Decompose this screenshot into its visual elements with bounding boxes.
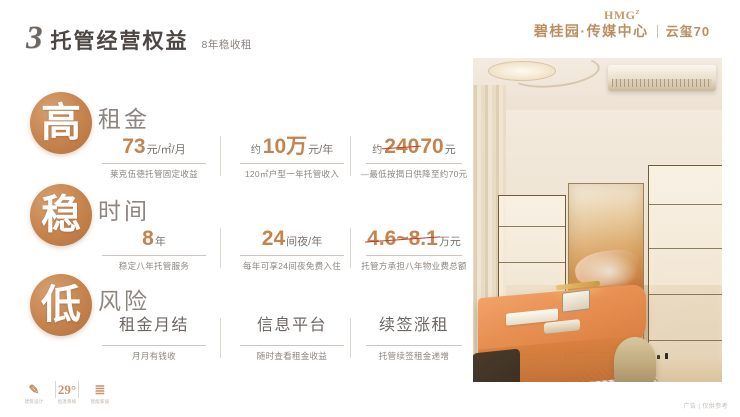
section-number: 3	[26, 22, 42, 55]
metric-value: 信息平台	[228, 318, 356, 342]
metric-term-years: 8 年 稳定八年托管服务	[90, 228, 218, 272]
metric-unit: 元/年	[308, 145, 333, 157]
disclaimer-text: 广告 | 仅供参考	[684, 401, 729, 410]
badge-char: 低	[41, 285, 81, 325]
metric-value: 约 240 70 元	[358, 136, 470, 160]
photo-laptop	[562, 289, 590, 312]
metric-number: 70	[420, 136, 443, 158]
benefit-row-rent: 高 租金 73 元/㎡/月 莱克伍德托管固定收益 约 10万 元/年 120㎡户…	[0, 92, 470, 184]
logo-brand: 碧桂园·传媒中心	[534, 24, 649, 38]
benefit-row-time: 稳 时间 8 年 稳定八年托管服务 24 间夜/年 每年可享24间夜免费入住 4…	[0, 184, 470, 276]
metric-caption: 稳定八年托管服务	[90, 260, 218, 272]
metric-label: 续签涨租	[379, 318, 449, 335]
brand-logo: HMGZ 碧桂园·传媒中心 云玺70	[522, 9, 722, 38]
badge-char: 稳	[41, 195, 81, 235]
footer-badge-design: ✎ 建筑设计	[22, 381, 46, 405]
metric-caption: 随时查看租金收益	[228, 350, 356, 362]
title-row: 3 托管经营权益 8年稳收租	[26, 22, 252, 55]
column-divider	[220, 136, 221, 176]
metric-number: 73	[122, 136, 145, 158]
benefit-row-risk: 低 风险 租金月结 月月有钱收 信息平台 随时查看租金收益 续签涨租 托管续签租…	[0, 274, 470, 366]
badge-di: 低	[30, 274, 92, 336]
metric-rent-monthly: 73 元/㎡/月 莱克伍德托管固定收益	[90, 136, 218, 180]
metric-underline	[102, 163, 206, 164]
metric-value: 73 元/㎡/月	[90, 136, 218, 160]
photo-chair	[472, 348, 520, 385]
metric-caption: 托管续签租金递增	[358, 350, 470, 362]
metric-underline	[240, 255, 344, 256]
metric-number-struck: 240	[384, 136, 419, 158]
logo-divider	[657, 25, 658, 38]
metric-value: 8 年	[90, 228, 218, 252]
column-divider	[220, 228, 221, 268]
interior-photo	[470, 55, 725, 385]
footer-badge-label: 恒温系统	[55, 399, 79, 405]
metric-underline	[240, 345, 344, 346]
metric-caption: 120㎡户型一年托管收入	[228, 168, 356, 180]
logo-project: 云玺70	[666, 25, 710, 38]
metric-caption: 每年可享24间夜免费入住	[228, 260, 356, 272]
badge-char: 高	[41, 103, 81, 143]
column-divider	[220, 318, 221, 358]
badge-word-time: 时间	[98, 192, 150, 226]
logo-names: 碧桂园·传媒中心 云玺70	[522, 24, 722, 38]
benefits-content: 高 租金 73 元/㎡/月 莱克伍德托管固定收益 约 10万 元/年 120㎡户…	[0, 66, 470, 366]
footer-badge-smarthome: ≣ 智能家居	[88, 381, 112, 405]
metric-free-nights: 24 间夜/年 每年可享24间夜免费入住	[228, 228, 356, 272]
metric-caption: 莱克伍德托管固定收益	[90, 168, 218, 180]
metric-number: 24	[262, 228, 285, 250]
metric-unit: 间夜/年	[286, 237, 322, 249]
metric-label: 租金月结	[119, 318, 189, 335]
metric-caption: 托管方承担八年物业费总额	[358, 260, 470, 272]
metric-property-fee: 4.6~8.1 万元 托管方承担八年物业费总额	[358, 228, 470, 272]
metric-mortgage-daily: 约 240 70 元 —最低按揭日供降至约70元	[358, 136, 470, 180]
logo-mark-text: HMG	[604, 8, 636, 22]
metric-number: 8	[142, 228, 154, 250]
badge-gao: 高	[30, 92, 92, 154]
metric-underline	[366, 163, 462, 164]
metric-value: 24 间夜/年	[228, 228, 356, 252]
metric-caption: 月月有钱收	[90, 350, 218, 362]
logo-mark: HMGZ	[522, 9, 722, 21]
metric-underline	[102, 345, 206, 346]
metric-monthly-settlement: 租金月结 月月有钱收	[90, 318, 218, 362]
thermometer-icon: 29°	[55, 381, 79, 398]
photo-ceiling	[470, 55, 725, 117]
smart-home-icon: ≣	[88, 381, 112, 398]
metric-value: 约 10万 元/年	[228, 136, 356, 160]
metric-prefix: 约	[372, 146, 382, 157]
page-header: 3 托管经营权益 8年稳收租	[0, 0, 470, 66]
metric-underline	[366, 255, 462, 256]
photo-cabinet-right	[648, 165, 725, 385]
badge-wen: 稳	[30, 184, 92, 246]
footer-badge-label: 建筑设计	[22, 399, 46, 405]
metric-info-platform: 信息平台 随时查看租金收益	[228, 318, 356, 362]
footer-badge-temperature: 29° 恒温系统	[55, 381, 79, 405]
interior-photo-image	[470, 55, 725, 385]
metric-label: 信息平台	[257, 318, 327, 335]
badge-word-rent: 租金	[98, 100, 150, 134]
page-subtitle: 8年稳收租	[202, 37, 252, 52]
metric-underline	[102, 255, 206, 256]
logo-mark-sup: Z	[635, 10, 640, 16]
metric-number: 10万	[263, 136, 307, 158]
pen-icon: ✎	[22, 381, 46, 398]
footer-badge-label: 智能家居	[88, 399, 112, 405]
photo-stool	[614, 337, 656, 385]
metric-renewal-increase: 续签涨租 托管续签租金递增	[358, 318, 470, 362]
metric-underline	[366, 345, 462, 346]
metric-value: 租金月结	[90, 318, 218, 342]
badge-word-risk: 风险	[98, 282, 150, 316]
metric-unit: 元/㎡/月	[147, 145, 186, 157]
metric-value: 4.6~8.1 万元	[358, 228, 470, 252]
metric-unit: 年	[155, 237, 166, 249]
metric-caption: —最低按揭日供降至约70元	[358, 168, 470, 180]
metric-underline	[240, 163, 344, 164]
metric-unit: 万元	[439, 237, 461, 249]
footer-badges: ✎ 建筑设计 29° 恒温系统 ≣ 智能家居	[22, 381, 112, 405]
metric-prefix: 约	[251, 146, 261, 157]
page-title: 托管经营权益	[51, 25, 189, 55]
photo-air-conditioner	[608, 65, 716, 91]
metric-number-struck: 4.6~8.1	[367, 228, 438, 250]
metric-rent-yearly: 约 10万 元/年 120㎡户型一年托管收入	[228, 136, 356, 180]
metric-value: 续签涨租	[358, 318, 470, 342]
metric-unit: 元	[445, 145, 456, 157]
